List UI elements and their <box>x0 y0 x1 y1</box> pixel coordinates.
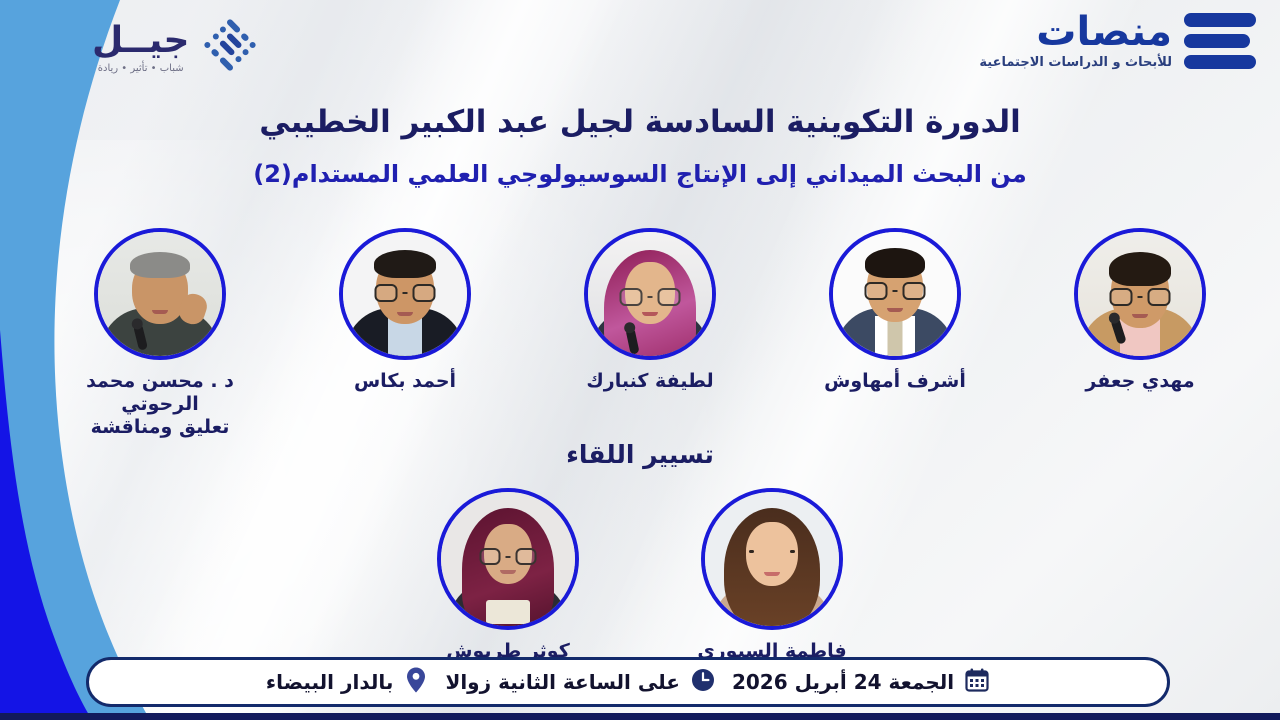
moderator-card: كوثر طربوش <box>413 488 603 663</box>
mansat-logo: منصات للأبحاث و الدراسات الاجتماعية <box>979 12 1256 70</box>
event-date-text: الجمعة 24 أبريل 2026 <box>732 670 954 694</box>
speaker-card: أحمد بكاس <box>305 228 505 393</box>
mansat-logo-brand: منصات <box>1036 12 1172 52</box>
page-title: الدورة التكوينية السادسة لجيل عبد الكبير… <box>0 104 1280 140</box>
avatar <box>339 228 471 360</box>
avatar <box>94 228 226 360</box>
avatar <box>701 488 843 630</box>
jeel-logo: جيــل شباب • تأثير • ريادة <box>92 14 261 80</box>
jeel-logo-tagline: شباب • تأثير • ريادة <box>98 63 184 74</box>
jeel-diamond-mark <box>199 14 261 80</box>
clock-icon <box>690 667 716 698</box>
speaker-card: مهدي جعفر <box>1040 228 1240 393</box>
event-info-bar: الجمعة 24 أبريل 2026 على الساعة الثانية … <box>86 657 1170 707</box>
speaker-name: لطيفة كنبارك <box>586 370 713 393</box>
calendar-icon <box>964 667 990 698</box>
speaker-name: أشرف أمهاوش <box>824 370 966 393</box>
speaker-role: تعليق ومناقشة <box>91 416 230 439</box>
mansat-logo-subtitle: للأبحاث و الدراسات الاجتماعية <box>979 55 1172 70</box>
avatar <box>437 488 579 630</box>
avatar <box>829 228 961 360</box>
speaker-card: أشرف أمهاوش <box>795 228 995 393</box>
speaker-name: مهدي جعفر <box>1085 370 1194 393</box>
moderator-card: فاطمة السيوري <box>677 488 867 663</box>
map-pin-icon <box>403 666 429 699</box>
avatar <box>1074 228 1206 360</box>
event-date-item: الجمعة 24 أبريل 2026 <box>732 667 990 698</box>
speaker-name: د . محسن محمد الرحوتي <box>60 370 260 416</box>
speakers-row: مهدي جعفر أشرف أمهاوش <box>60 228 1240 440</box>
event-time-text: على الساعة الثانية زوالا <box>445 670 680 694</box>
jeel-logo-word: جيــل <box>92 23 189 59</box>
bottom-strip <box>0 713 1280 720</box>
event-place-text: بالدار البيضاء <box>266 670 394 694</box>
speaker-card: لطيفة كنبارك <box>550 228 750 393</box>
speaker-name: أحمد بكاس <box>354 370 456 393</box>
three-bars-mark <box>1184 13 1256 69</box>
moderation-heading: تسيير اللقاء <box>0 440 1280 469</box>
moderators-row: فاطمة السيوري كوثر طربوش <box>0 488 1280 663</box>
speaker-card: د . محسن محمد الرحوتي تعليق ومناقشة <box>60 228 260 440</box>
avatar <box>584 228 716 360</box>
event-time-item: على الساعة الثانية زوالا <box>445 667 716 698</box>
event-poster: جيــل شباب • تأثير • ريادة <box>0 0 1280 720</box>
event-place-item: بالدار البيضاء <box>266 666 430 699</box>
page-subtitle: من البحث الميداني إلى الإنتاج السوسيولوج… <box>0 160 1280 188</box>
